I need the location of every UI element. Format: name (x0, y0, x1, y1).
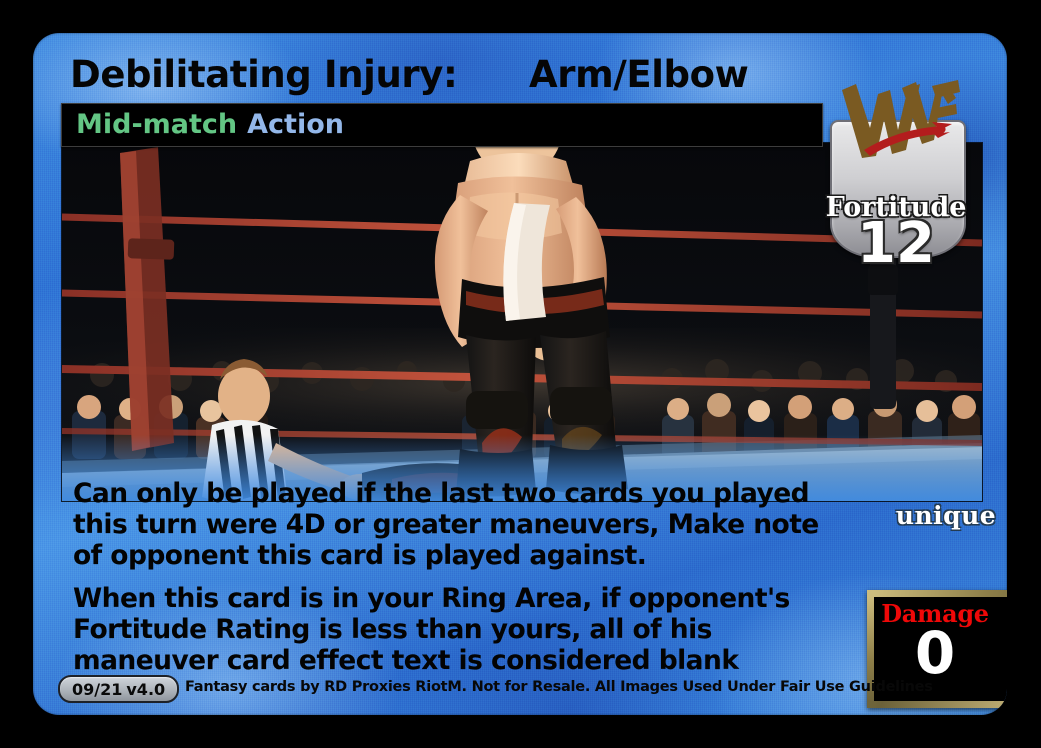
card-type-kind: Action (237, 109, 344, 140)
unique-label: unique (881, 501, 1007, 530)
wrestling-card: Debilitating Injury: Arm/Elbow Mid-match… (33, 33, 1007, 715)
credits-text: Fantasy cards by RD Proxies RiotM. Not f… (185, 675, 933, 699)
fortitude-value: 12 (822, 216, 970, 272)
version-badge: 09/21 v4.0 (58, 675, 179, 703)
version-revision: v4.0 (123, 680, 165, 699)
fortitude-shield: Fortitude 12 (822, 78, 970, 258)
effect-paragraph-2: When this card is in your Ring Area, if … (73, 583, 833, 676)
version-date: 09/21 (72, 680, 122, 699)
card-effect-text: Can only be played if the last two cards… (73, 478, 833, 688)
wwf-logo-icon (836, 78, 964, 164)
card-type-bar: Mid-matchAction (61, 103, 823, 147)
card-footer: 09/21 v4.0 Fantasy cards by RD Proxies R… (33, 673, 1007, 705)
card-type-timing: Mid-match (76, 109, 237, 140)
screenshot-root: Debilitating Injury: Arm/Elbow Mid-match… (0, 0, 1041, 748)
card-title-subject: Arm/Elbow (529, 49, 748, 101)
effect-paragraph-1: Can only be played if the last two cards… (73, 478, 833, 571)
card-type-line: Mid-matchAction (76, 104, 344, 146)
card-title-main: Debilitating Injury: (70, 49, 457, 101)
